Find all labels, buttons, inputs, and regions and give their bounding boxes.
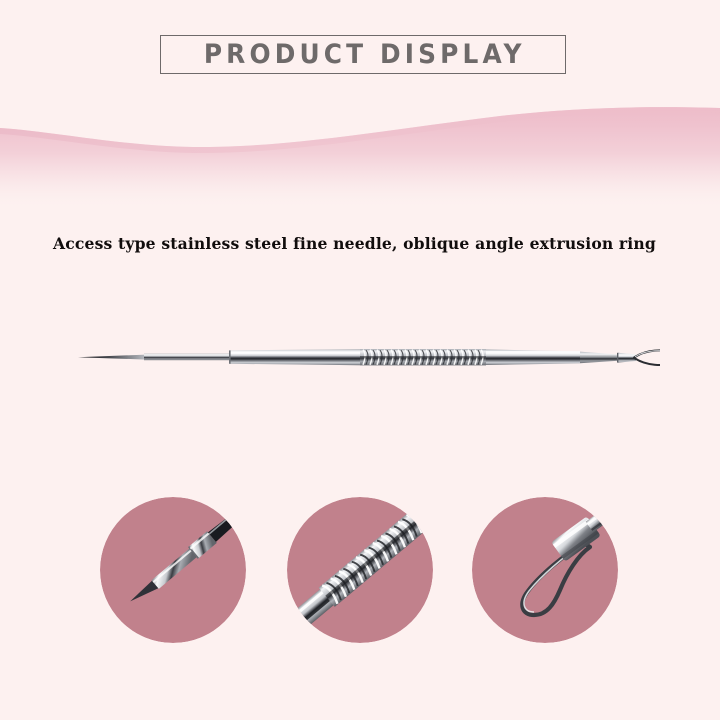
page-title: PRODUCT DISPLAY <box>200 41 525 68</box>
detail-needle-tip <box>100 497 246 643</box>
page-title-box: PRODUCT DISPLAY <box>160 35 566 74</box>
detail-knurled-grip <box>287 497 433 643</box>
product-main-image <box>60 325 660 390</box>
detail-extrusion-loop <box>472 497 618 643</box>
product-subtitle: Access type stainless steel fine needle,… <box>53 234 673 253</box>
product-display-page: PRODUCT DISPLAY <box>0 0 720 720</box>
pink-wave-banner <box>0 90 720 210</box>
